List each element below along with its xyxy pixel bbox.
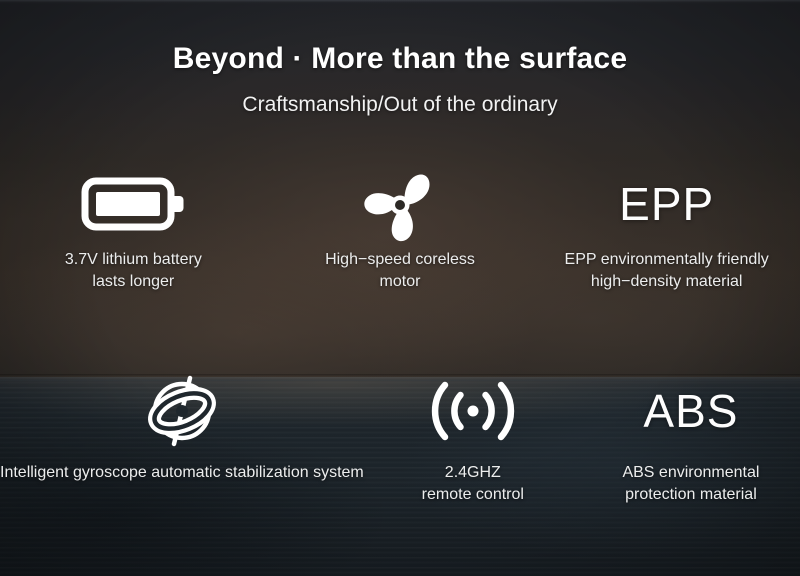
signal-waves-icon bbox=[430, 372, 516, 450]
product-feature-banner: Beyond · More than the surface Craftsman… bbox=[0, 0, 800, 576]
feature-item-motor: High−speed coreless motor bbox=[267, 168, 534, 293]
epp-wordmark-text: EPP bbox=[619, 181, 714, 227]
feature-item-battery: 3.7V lithium battery lasts longer bbox=[0, 168, 267, 293]
feature-item-abs: ABS ABS environmental protection materia… bbox=[582, 372, 800, 506]
gyroscope-icon bbox=[143, 372, 221, 450]
feature-item-epp: EPP EPP environmentally friendly high−de… bbox=[533, 168, 800, 293]
feature-row-top: 3.7V lithium battery lasts longer bbox=[0, 168, 800, 293]
feature-item-gyroscope: Intelligent gyroscope automatic stabiliz… bbox=[0, 372, 364, 506]
feature-item-remote: 2.4GHZ remote control bbox=[364, 372, 582, 506]
feature-caption: 2.4GHZ remote control bbox=[422, 462, 524, 506]
feature-caption: Intelligent gyroscope automatic stabiliz… bbox=[0, 462, 364, 484]
feature-row-bottom: Intelligent gyroscope automatic stabiliz… bbox=[0, 372, 800, 506]
page-title: Beyond · More than the surface bbox=[0, 42, 800, 76]
feature-caption: ABS environmental protection material bbox=[622, 462, 759, 506]
battery-icon bbox=[81, 168, 185, 240]
propeller-icon bbox=[358, 168, 442, 240]
feature-caption: 3.7V lithium battery lasts longer bbox=[65, 249, 202, 293]
feature-caption: High−speed coreless motor bbox=[325, 249, 475, 293]
abs-wordmark-text: ABS bbox=[643, 388, 738, 434]
page-subtitle: Craftsmanship/Out of the ordinary bbox=[0, 93, 800, 117]
abs-wordmark: ABS bbox=[643, 372, 738, 450]
feature-caption: EPP environmentally friendly high−densit… bbox=[565, 249, 769, 293]
epp-wordmark: EPP bbox=[619, 168, 714, 240]
